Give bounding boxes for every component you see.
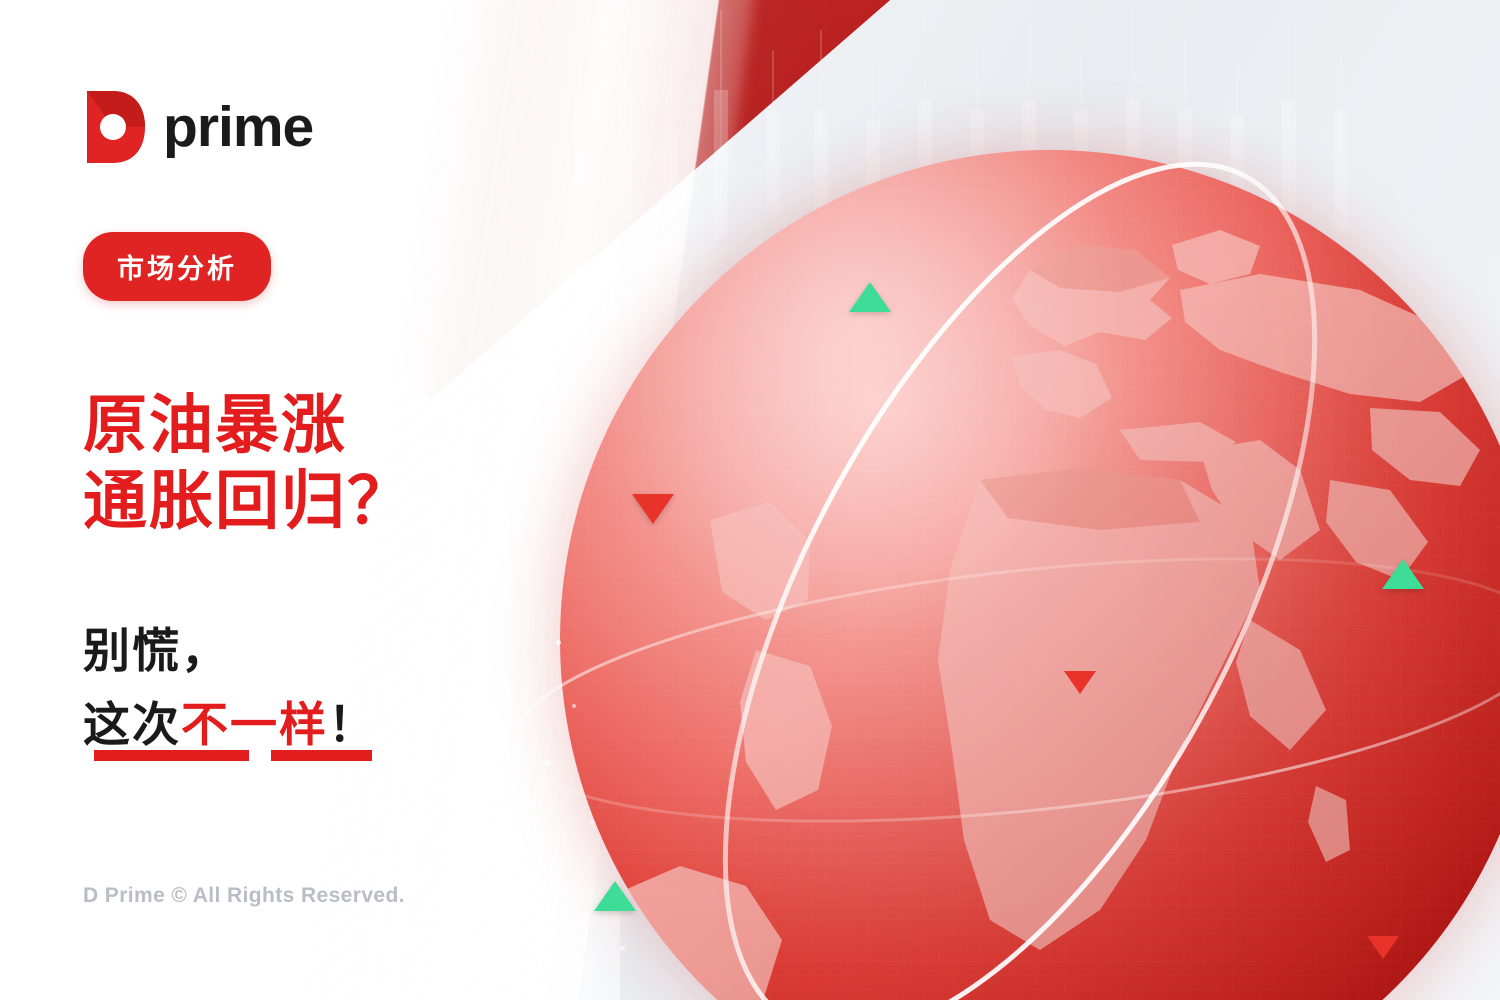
world-globe-graphic [560,150,1500,1000]
marker-up-2 [1382,559,1424,589]
brand-logo: prime [83,88,313,166]
subhead-suffix: ！ [328,686,377,755]
marker-up-3 [594,881,636,911]
subhead-prefix: 这次 [83,686,181,755]
copyright-text: D Prime © All Rights Reserved. [83,884,405,908]
headline: 原油暴涨 通胀回归？ [83,388,413,539]
marker-down-3 [1367,936,1399,959]
category-badge: 市场分析 [83,232,271,301]
content-column: prime 市场分析 原油暴涨 通胀回归？ 别慌， 这次 不一样 ！ D Pri… [0,0,560,1000]
marker-up-1 [849,282,891,312]
marker-down-2 [1064,671,1096,694]
subhead-line-2: 这次 不一样 ！ [83,686,377,755]
subhead-line-1: 别慌， [83,612,230,681]
marker-down-1 [632,494,674,524]
d-prime-logo-icon [83,88,149,166]
brand-wordmark: prime [163,99,313,156]
emphasis-underline [94,750,372,761]
promo-banner: prime 市场分析 原油暴涨 通胀回归？ 别慌， 这次 不一样 ！ D Pri… [0,0,1500,1000]
emphasis-underline-gap [249,750,271,761]
subhead-emphasis: 不一样 [181,686,328,755]
